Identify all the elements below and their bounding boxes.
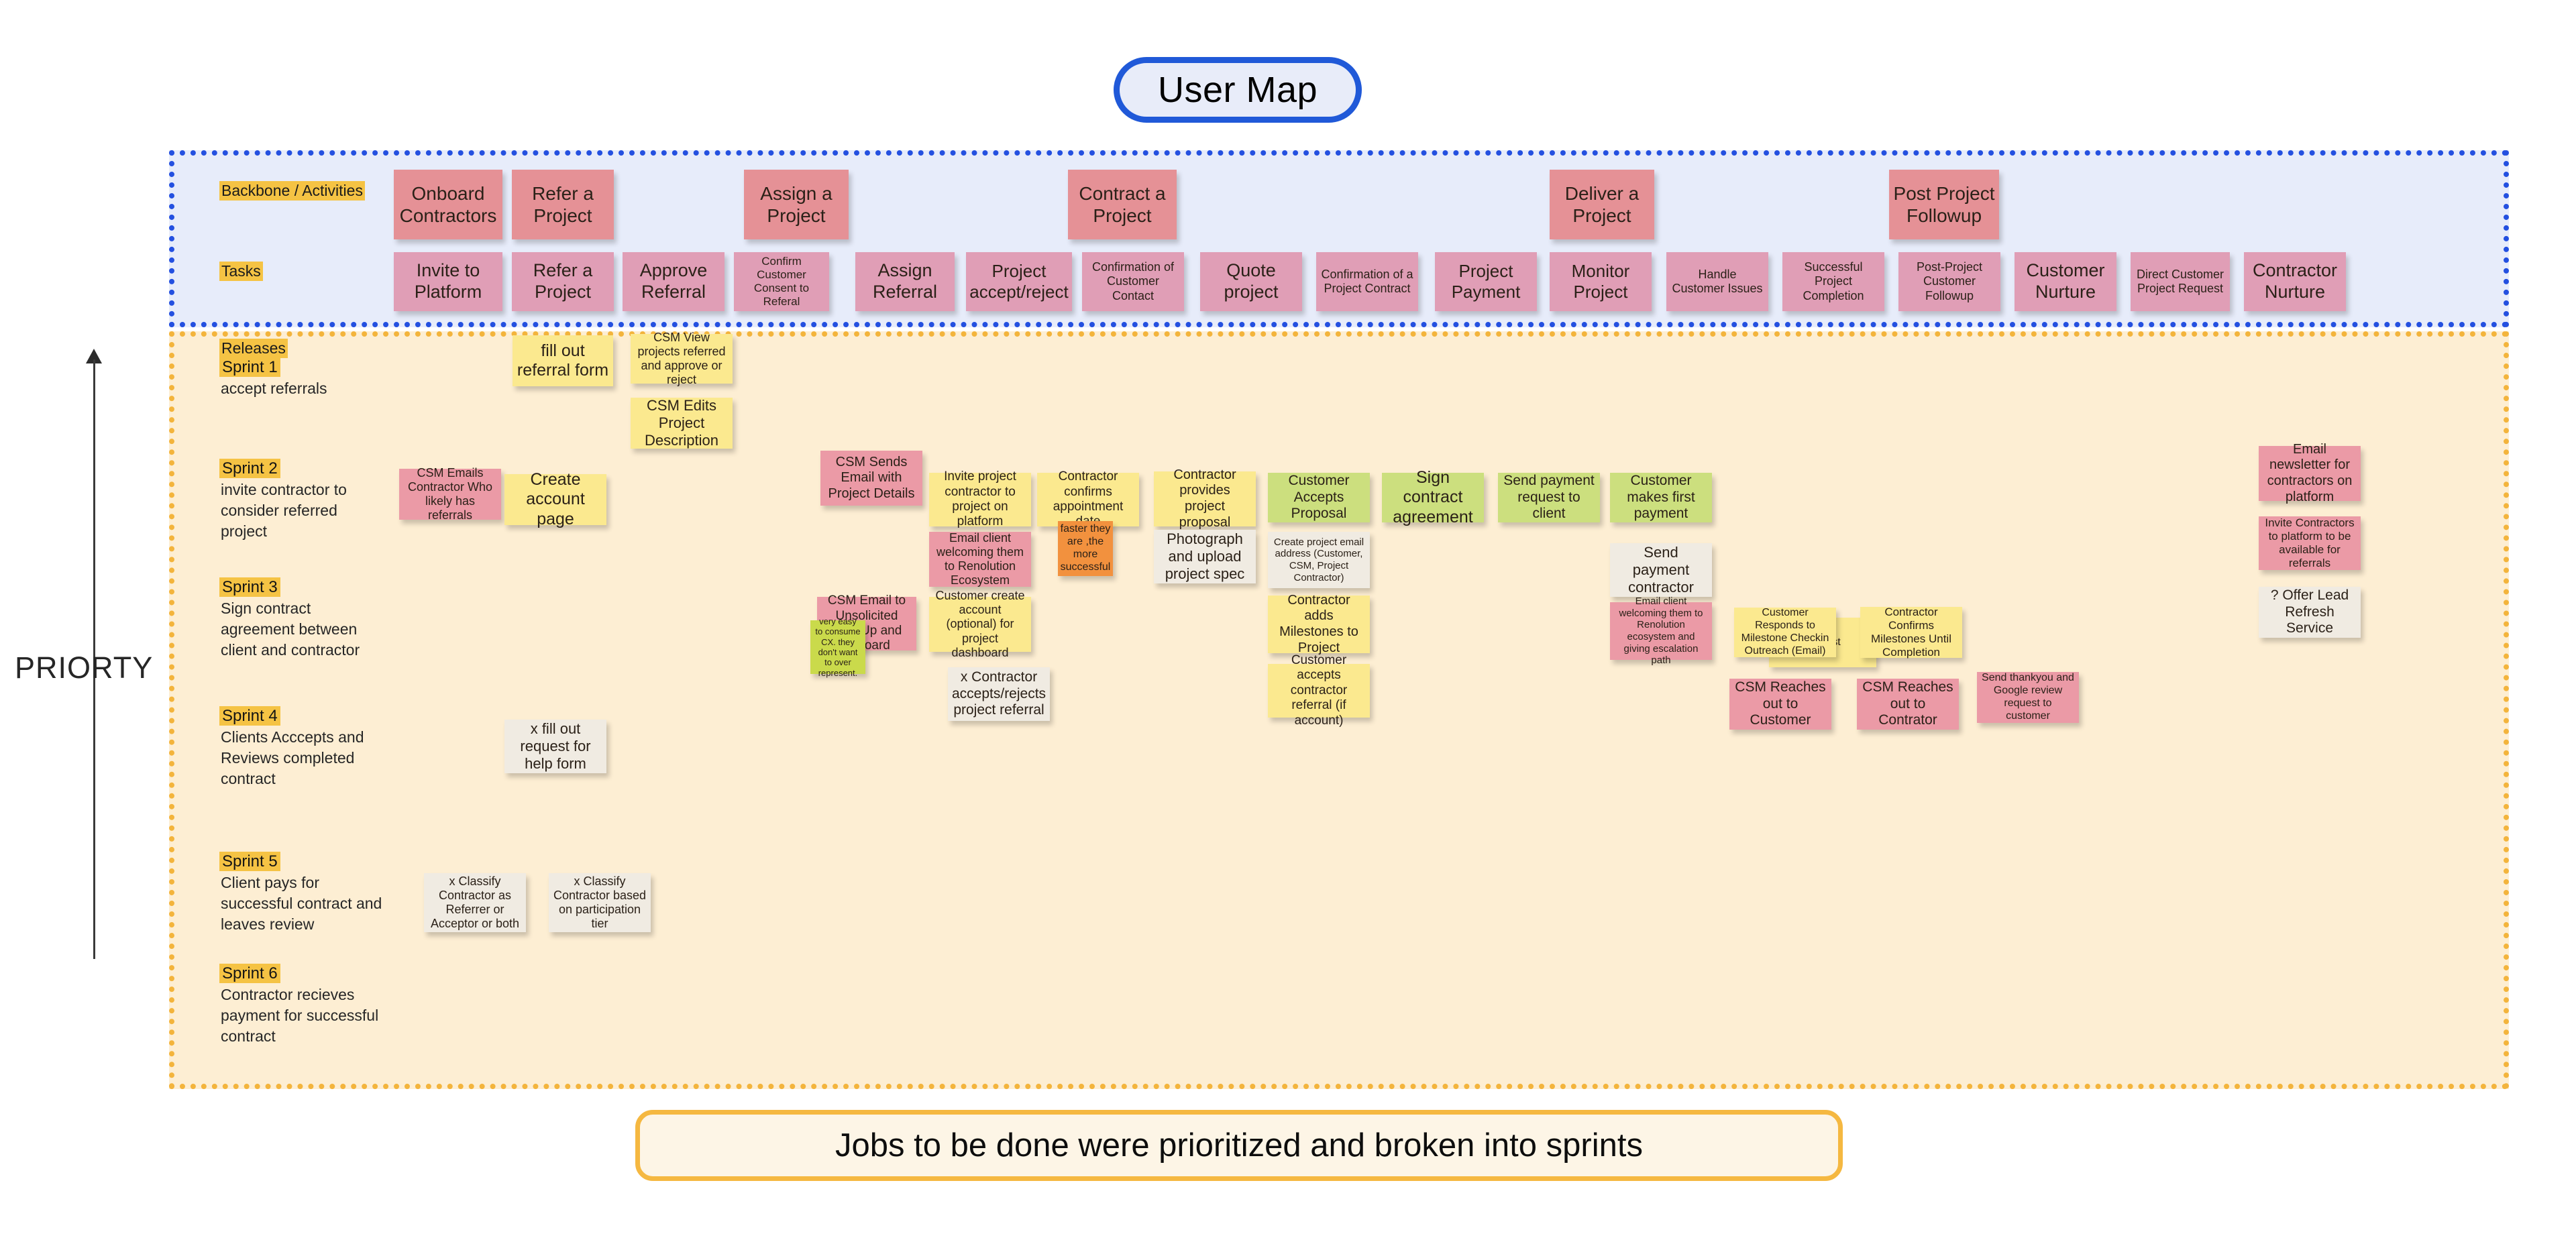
- task-card[interactable]: Refer a Project: [512, 252, 614, 311]
- task-card[interactable]: Monitor Project: [1550, 252, 1652, 311]
- task-card[interactable]: Handle Customer Issues: [1666, 252, 1768, 311]
- sprint-block: Sprint 5 Client pays for successful cont…: [219, 852, 387, 935]
- releases-row-label: Releases: [219, 339, 288, 358]
- story-card[interactable]: CSM Sends Email with Project Details: [820, 451, 922, 506]
- user-story-map-canvas: User Map Backbone / Activities Tasks Onb…: [0, 0, 2576, 1244]
- sprint-block: Sprint 4 Clients Acccepts and Reviews co…: [219, 706, 387, 789]
- backbone-card[interactable]: Post Project Followup: [1889, 170, 1999, 239]
- story-card[interactable]: Customer makes first payment: [1610, 473, 1712, 522]
- story-card[interactable]: CSM View projects referred and approve o…: [631, 334, 733, 384]
- story-card[interactable]: Contractor adds Milestones to Project: [1268, 596, 1370, 653]
- story-card[interactable]: Customer create account (optional) for p…: [929, 597, 1031, 652]
- sprint-description: Clients Acccepts and Reviews completed c…: [219, 727, 387, 789]
- priority-axis-label: PRIORTY: [15, 651, 153, 685]
- task-card[interactable]: Assign Referral: [855, 252, 955, 311]
- story-card[interactable]: x Classify Contractor as Referrer or Acc…: [424, 873, 526, 932]
- sprint-block: Sprint 1 accept referrals: [219, 357, 387, 399]
- sprint-description: invite contractor to consider referred p…: [219, 479, 387, 542]
- story-card[interactable]: CSM Edits Project Description: [631, 398, 733, 449]
- story-card[interactable]: Contractor Confirms Milestones Until Com…: [1860, 607, 1962, 658]
- story-card[interactable]: Contractor provides project proposal: [1154, 471, 1256, 526]
- story-card[interactable]: fill out referral form: [513, 335, 613, 386]
- story-card[interactable]: Create account page: [504, 474, 606, 525]
- story-card[interactable]: very easy to consume CX. they don't want…: [810, 620, 865, 674]
- sprint-block: Sprint 2 invite contractor to consider r…: [219, 459, 387, 542]
- story-card[interactable]: Customer Responds to Milestone Checkin O…: [1734, 608, 1836, 657]
- sprint-block: Sprint 6 Contractor recieves payment for…: [219, 964, 387, 1047]
- page-title-text: User Map: [1158, 69, 1318, 111]
- story-card[interactable]: CSM Reaches out to Contrator: [1857, 679, 1959, 730]
- page-title: User Map: [1114, 57, 1362, 123]
- sprint-description: Sign contract agreement between client a…: [219, 598, 387, 661]
- story-card[interactable]: Send thankyou and Google review request …: [1977, 672, 2079, 723]
- story-card[interactable]: x Classify Contractor based on participa…: [549, 873, 651, 932]
- sprint-tag: Sprint 2: [219, 459, 280, 478]
- sprint-block: Sprint 3 Sign contract agreement between…: [219, 577, 387, 661]
- story-card[interactable]: Contractor confirms appointment date: [1037, 473, 1139, 526]
- task-card[interactable]: Confirmation of Customer Contact: [1082, 252, 1184, 311]
- story-card[interactable]: x Contractor accepts/rejects project ref…: [948, 667, 1050, 721]
- story-card[interactable]: CSM Emails Contractor Who likely has ref…: [399, 469, 501, 520]
- story-card[interactable]: Photograph and upload project spec: [1154, 530, 1256, 583]
- backbone-card[interactable]: Onboard Contractors: [394, 170, 502, 239]
- task-card[interactable]: Post-Project Customer Followup: [1898, 252, 2000, 311]
- task-card[interactable]: Approve Referral: [623, 252, 724, 311]
- story-card[interactable]: Sign contract agreement: [1382, 473, 1484, 522]
- backbone-card[interactable]: Contract a Project: [1068, 170, 1177, 239]
- tasks-row-label: Tasks: [219, 262, 263, 281]
- task-card[interactable]: Invite to Platform: [394, 252, 502, 311]
- story-card[interactable]: x fill out request for help form: [504, 720, 606, 773]
- sprint-tag: Sprint 3: [219, 577, 280, 597]
- task-card[interactable]: Contractor Nurture: [2244, 252, 2346, 311]
- backbone-card[interactable]: Refer a Project: [512, 170, 614, 239]
- sprint-description: Client pays for successful contract and …: [219, 872, 387, 935]
- sprint-tag: Sprint 6: [219, 964, 280, 983]
- story-card[interactable]: Customer Accepts Proposal: [1268, 473, 1370, 522]
- backbone-row-label: Backbone / Activities: [219, 181, 365, 201]
- story-card[interactable]: CSM Reaches out to Customer: [1729, 679, 1831, 730]
- task-card[interactable]: Successful Project Completion: [1782, 252, 1884, 311]
- story-card[interactable]: Invite Contractors to platform to be ava…: [2259, 516, 2361, 570]
- story-card[interactable]: Invite project contractor to project on …: [929, 473, 1031, 526]
- story-card[interactable]: faster they are ,the more successful: [1058, 521, 1113, 576]
- task-card[interactable]: Confirm Customer Consent to Referal: [734, 252, 829, 311]
- sprint-description: Contractor recieves payment for successf…: [219, 984, 387, 1047]
- sprint-tag: Sprint 4: [219, 706, 280, 726]
- sprint-tag: Sprint 1: [219, 357, 280, 377]
- story-card[interactable]: Email client welcoming them to Renolutio…: [929, 532, 1031, 587]
- task-card[interactable]: Direct Customer Project Request: [2131, 252, 2230, 311]
- story-card[interactable]: Send payment contractor: [1610, 543, 1712, 597]
- bottom-caption-text: Jobs to be done were prioritized and bro…: [835, 1127, 1643, 1164]
- story-card[interactable]: Create project email address (Customer, …: [1268, 532, 1370, 588]
- story-card[interactable]: ? Offer Lead Refresh Service: [2259, 587, 2361, 638]
- task-card[interactable]: Quote project: [1200, 252, 1302, 311]
- bottom-caption: Jobs to be done were prioritized and bro…: [635, 1110, 1843, 1181]
- task-card[interactable]: Project accept/reject: [966, 252, 1072, 311]
- story-card[interactable]: Email client welcoming them to Renolutio…: [1610, 602, 1712, 660]
- task-card[interactable]: Customer Nurture: [2015, 252, 2116, 311]
- backbone-card[interactable]: Assign a Project: [744, 170, 849, 239]
- task-card[interactable]: Project Payment: [1435, 252, 1537, 311]
- task-card[interactable]: Confirmation of a Project Contract: [1316, 252, 1418, 311]
- backbone-card[interactable]: Deliver a Project: [1550, 170, 1654, 239]
- story-card[interactable]: Send payment request to client: [1498, 473, 1600, 522]
- sprint-tag: Sprint 5: [219, 852, 280, 871]
- story-card[interactable]: Customer accepts contractor referral (if…: [1268, 664, 1370, 718]
- story-card[interactable]: Email newsletter for contractors on plat…: [2259, 446, 2361, 501]
- sprint-description: accept referrals: [219, 378, 387, 399]
